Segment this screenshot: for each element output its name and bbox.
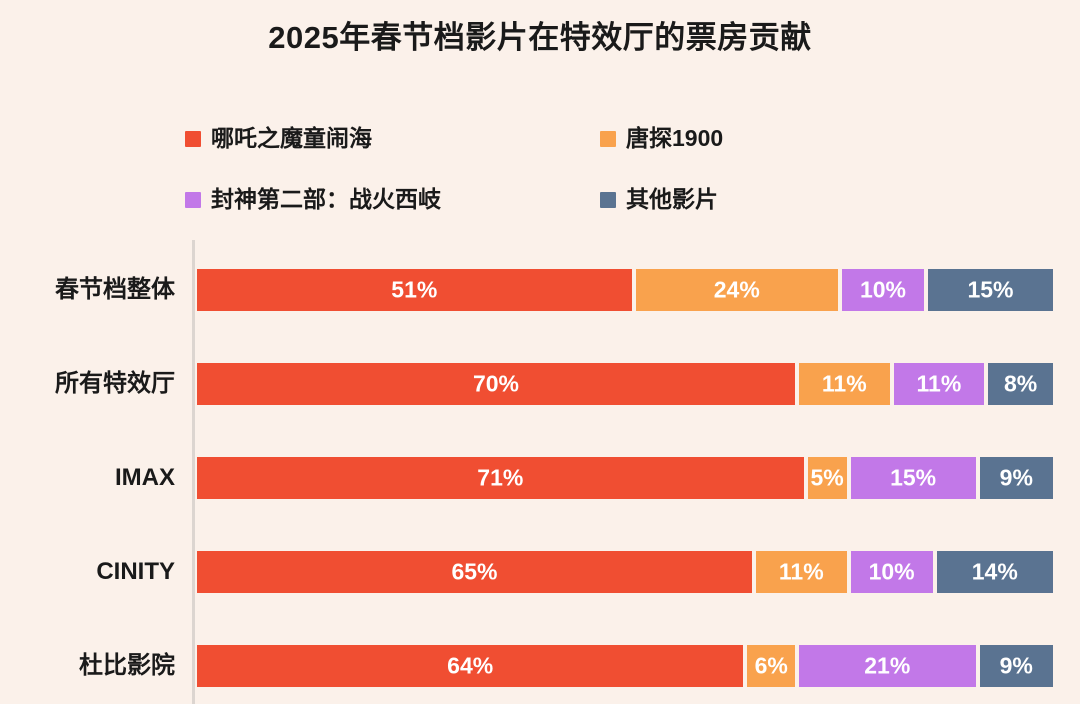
bar-segment[interactable]: 65% bbox=[195, 549, 754, 595]
bar-segment[interactable]: 9% bbox=[978, 455, 1055, 501]
bar-segment-value: 71% bbox=[477, 467, 523, 490]
bar-segment-value: 24% bbox=[714, 279, 760, 302]
bar-segment-value: 9% bbox=[1000, 467, 1033, 490]
category-label: IMAX bbox=[0, 455, 175, 501]
bar-segment[interactable]: 24% bbox=[634, 267, 840, 313]
bar-track: 70%11%11%8% bbox=[195, 361, 1055, 407]
bar-segment-value: 21% bbox=[864, 655, 910, 678]
bar-segment[interactable]: 8% bbox=[986, 361, 1055, 407]
bar-segment[interactable]: 14% bbox=[935, 549, 1055, 595]
bar-segment-value: 11% bbox=[822, 373, 867, 396]
bar-segment-value: 64% bbox=[447, 655, 493, 678]
legend-label-tangtan: 唐探1900 bbox=[626, 127, 723, 150]
bar-row: CINITY65%11%10%14% bbox=[0, 549, 1080, 595]
bar-segment-value: 65% bbox=[451, 561, 497, 584]
bar-segment-value: 5% bbox=[810, 467, 843, 490]
bar-segment[interactable]: 21% bbox=[797, 643, 978, 689]
bar-segment-value: 11% bbox=[779, 561, 824, 584]
bar-segment-value: 8% bbox=[1004, 373, 1037, 396]
bar-segment-value: 70% bbox=[473, 373, 519, 396]
legend-item-tangtan[interactable]: 唐探1900 bbox=[600, 124, 805, 154]
bar-segment-value: 14% bbox=[972, 561, 1018, 584]
bar-segment-value: 9% bbox=[1000, 655, 1033, 678]
bar-segment[interactable]: 10% bbox=[840, 267, 926, 313]
bar-segment[interactable]: 51% bbox=[195, 267, 634, 313]
bar-row: 杜比影院64%6%21%9% bbox=[0, 643, 1080, 689]
bar-segment[interactable]: 11% bbox=[892, 361, 987, 407]
category-label: 杜比影院 bbox=[0, 643, 175, 689]
legend-item-nezha[interactable]: 哪吒之魔童闹海 bbox=[185, 124, 600, 154]
bar-segment[interactable]: 10% bbox=[849, 549, 935, 595]
legend-swatch-fengshen bbox=[185, 192, 201, 208]
bar-track: 51%24%10%15% bbox=[195, 267, 1055, 313]
legend-swatch-nezha bbox=[185, 131, 201, 147]
bar-segment-value: 11% bbox=[917, 373, 962, 396]
bar-track: 64%6%21%9% bbox=[195, 643, 1055, 689]
chart-plot-area: 春节档整体51%24%10%15%所有特效厅70%11%11%8%IMAX71%… bbox=[0, 240, 1080, 704]
category-label: 所有特效厅 bbox=[0, 361, 175, 407]
legend-label-nezha: 哪吒之魔童闹海 bbox=[211, 127, 372, 150]
bar-segment[interactable]: 5% bbox=[806, 455, 849, 501]
bar-segment[interactable]: 6% bbox=[745, 643, 797, 689]
bar-row: 春节档整体51%24%10%15% bbox=[0, 267, 1080, 313]
legend-swatch-other bbox=[600, 192, 616, 208]
chart-legend: 哪吒之魔童闹海 唐探1900 封神第二部：战火西岐 其他影片 bbox=[185, 108, 805, 230]
bar-segment[interactable]: 64% bbox=[195, 643, 745, 689]
legend-label-fengshen: 封神第二部：战火西岐 bbox=[211, 188, 441, 211]
bar-segment[interactable]: 70% bbox=[195, 361, 797, 407]
bar-segment[interactable]: 9% bbox=[978, 643, 1055, 689]
bar-segment-value: 6% bbox=[755, 655, 788, 678]
legend-item-other[interactable]: 其他影片 bbox=[600, 185, 805, 215]
bar-track: 65%11%10%14% bbox=[195, 549, 1055, 595]
legend-item-fengshen[interactable]: 封神第二部：战火西岐 bbox=[185, 185, 600, 215]
bar-segment-value: 51% bbox=[391, 279, 437, 302]
bar-row: 所有特效厅70%11%11%8% bbox=[0, 361, 1080, 407]
bar-segment-value: 10% bbox=[860, 279, 906, 302]
page-title: 2025年春节档影片在特效厅的票房贡献 bbox=[0, 12, 1080, 57]
bar-segment[interactable]: 11% bbox=[797, 361, 892, 407]
category-label: CINITY bbox=[0, 549, 175, 595]
bar-row: IMAX71%5%15%9% bbox=[0, 455, 1080, 501]
bar-segment-value: 10% bbox=[869, 561, 915, 584]
legend-label-other: 其他影片 bbox=[626, 188, 718, 211]
bar-segment[interactable]: 15% bbox=[926, 267, 1055, 313]
bar-segment[interactable]: 11% bbox=[754, 549, 849, 595]
bar-segment[interactable]: 15% bbox=[849, 455, 978, 501]
category-label: 春节档整体 bbox=[0, 267, 175, 313]
bar-segment-value: 15% bbox=[890, 467, 936, 490]
bar-track: 71%5%15%9% bbox=[195, 455, 1055, 501]
legend-swatch-tangtan bbox=[600, 131, 616, 147]
bar-segment-value: 15% bbox=[967, 279, 1013, 302]
bar-segment[interactable]: 71% bbox=[195, 455, 806, 501]
